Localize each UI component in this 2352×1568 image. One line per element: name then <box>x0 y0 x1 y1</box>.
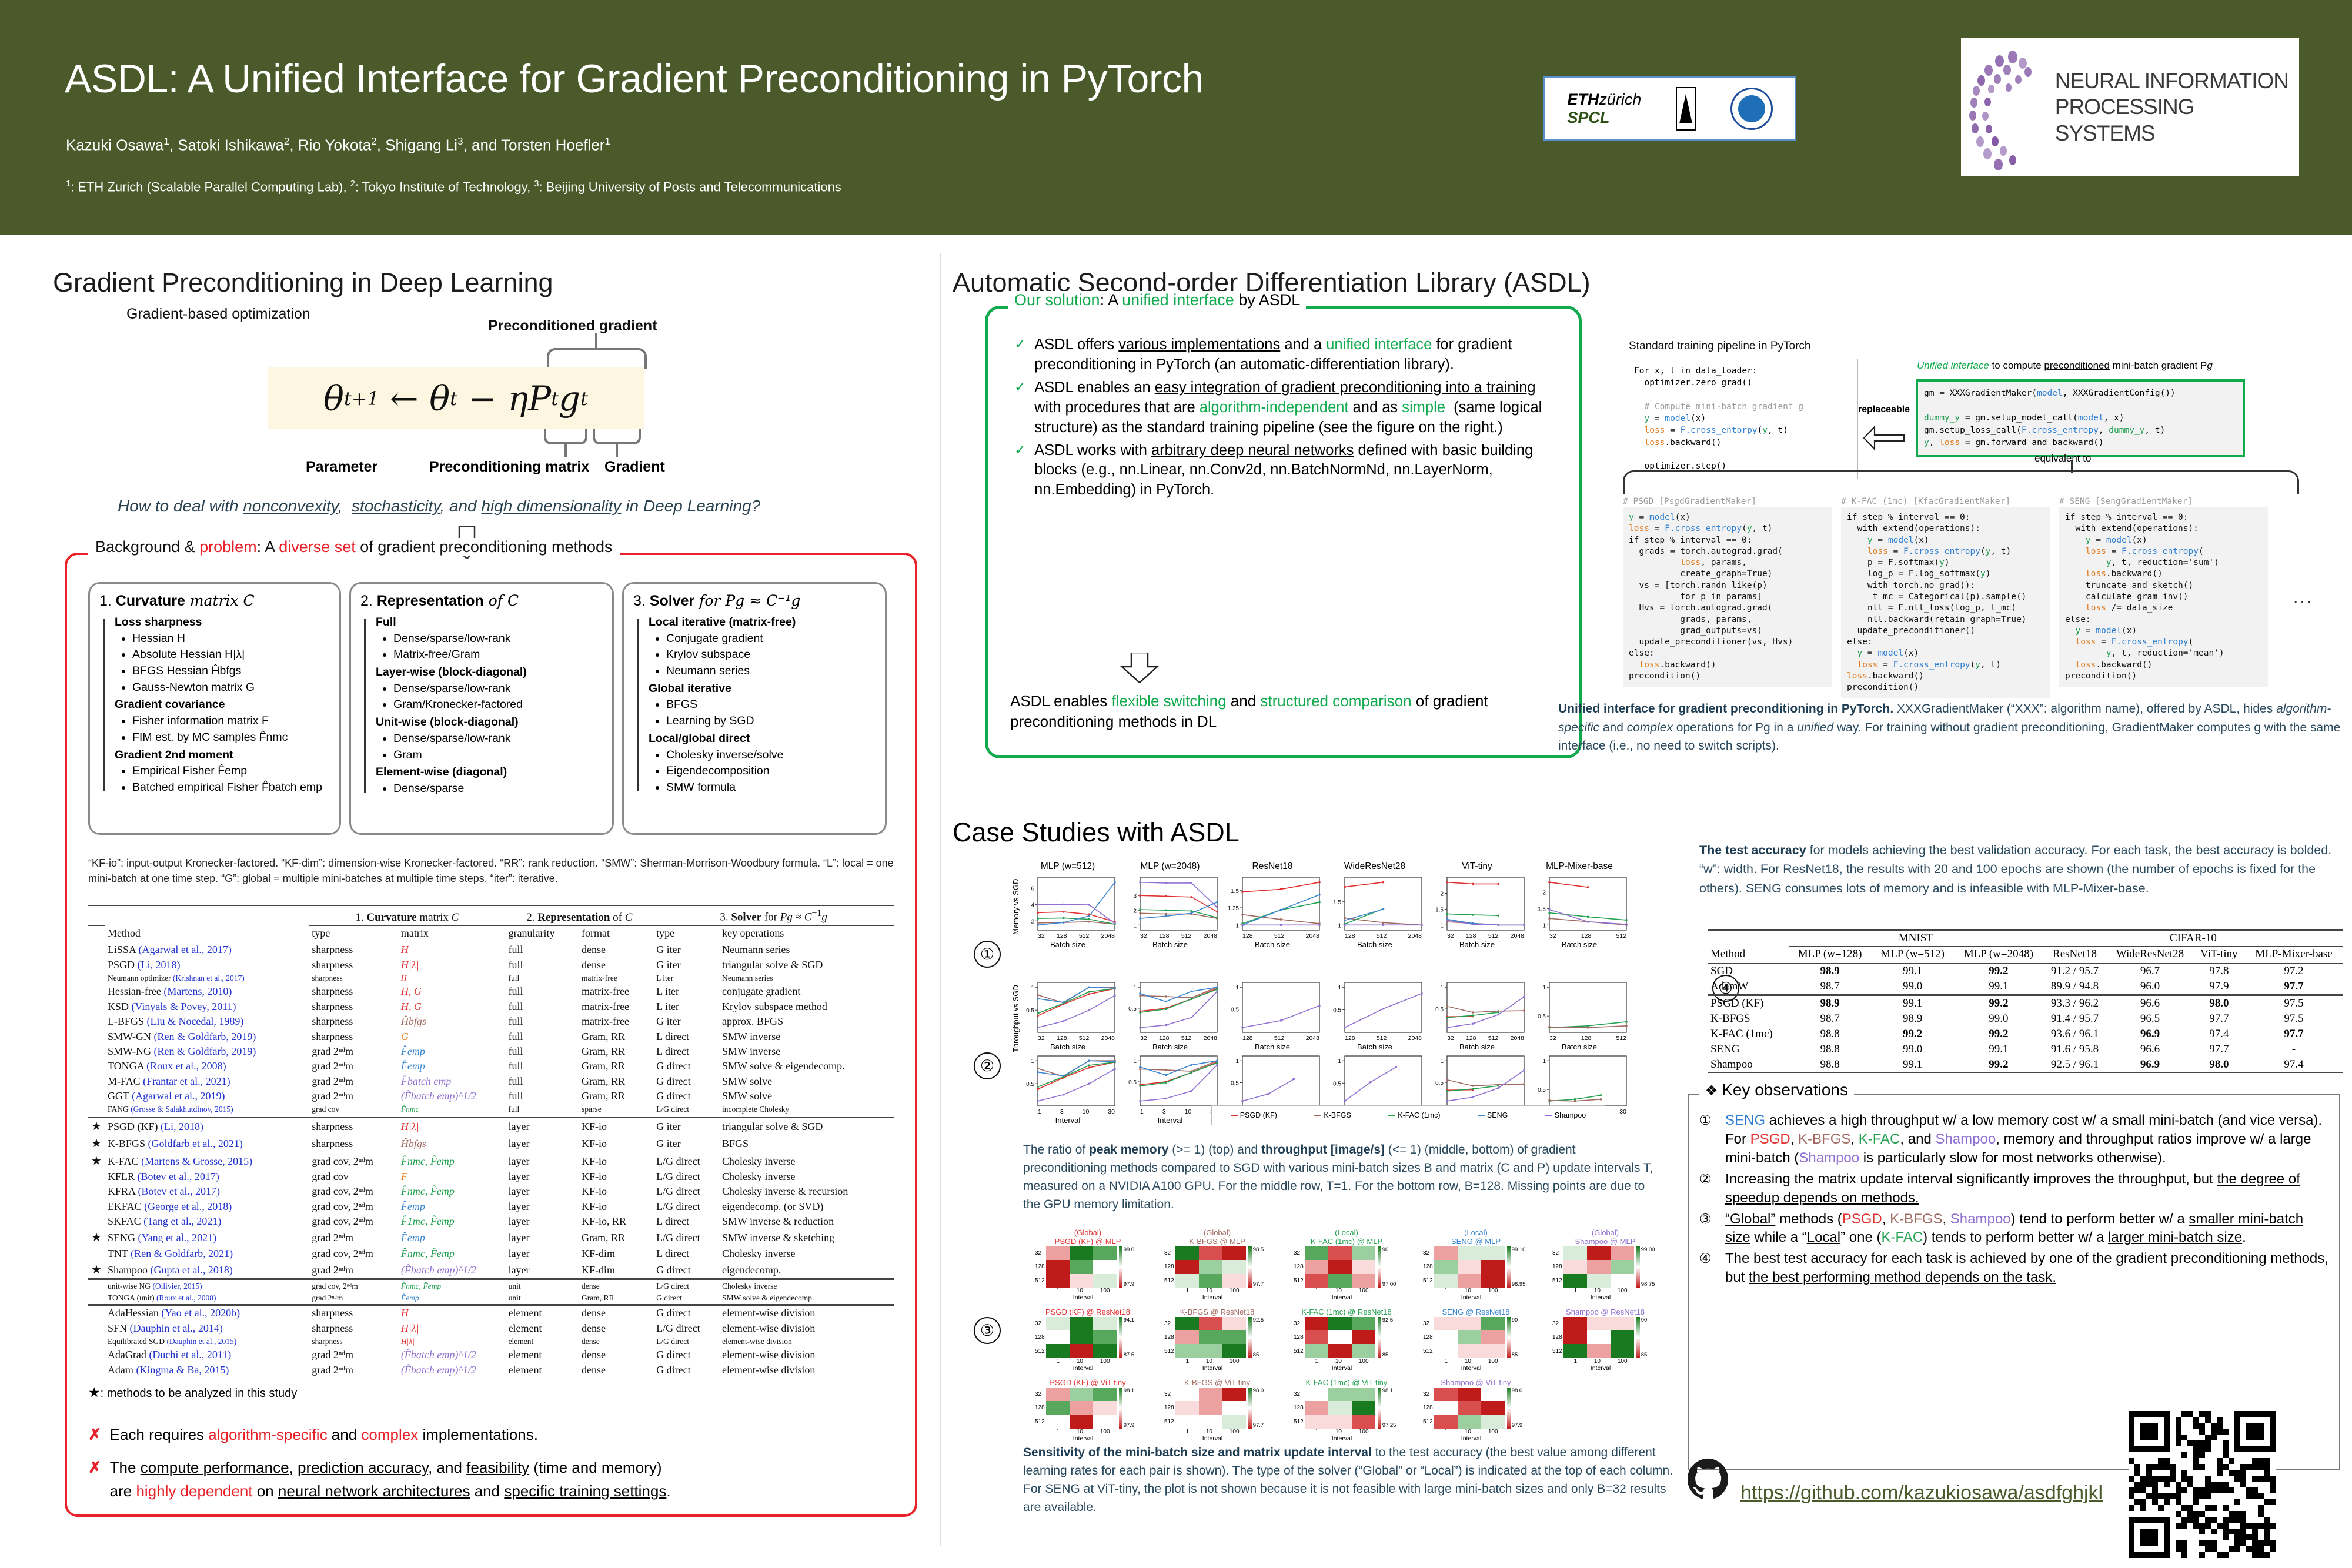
svg-text:0.5: 0.5 <box>1128 1079 1137 1086</box>
accuracy-caption: The test accuracy for models achieving t… <box>1699 841 2346 898</box>
chart-xaxis-label: Interval <box>1020 1116 1115 1125</box>
heatmap-ytick: 512 <box>1294 1348 1304 1355</box>
table-row: EKFAC (George et al., 2018)grad cov, 2ⁿᵈ… <box>88 1199 894 1213</box>
svg-text:1: 1 <box>1338 985 1341 991</box>
svg-text:0.5: 0.5 <box>1333 1081 1341 1087</box>
heatmap-ytick: 512 <box>1164 1278 1174 1284</box>
label-preconditioned-gradient: Preconditioned gradient <box>488 317 657 335</box>
table-row: AdaHessian (Yao et al., 2020b)sharpnessH… <box>88 1305 894 1321</box>
observation-number: ③ <box>1699 1210 1725 1248</box>
unified-interface-caption: Unified interface for gradient precondit… <box>1558 700 2343 755</box>
heatmap-ytick: 32 <box>1423 1250 1433 1256</box>
chart-row-memory: MLP (w=512)246321285122048Batch sizeMLP … <box>1020 861 1627 949</box>
bupt-logo <box>1730 88 1773 130</box>
heatmap-cbar-bottom: 87.5 <box>1124 1352 1135 1358</box>
solution-check-item: ✓ASDL offers various implementations and… <box>1014 335 1552 375</box>
heatmap-xlabel: Interval <box>1048 1294 1118 1301</box>
heatmap-ytick: 32 <box>1035 1320 1045 1327</box>
author-list: Kazuki Osawa1, Satoki Ishikawa2, Rio Yok… <box>66 135 610 155</box>
svg-text:2: 2 <box>1133 908 1137 914</box>
heatmap-cbar-top: 90 <box>1382 1246 1396 1253</box>
table-row: LiSSA (Agarwal et al., 2017)sharpnessHfu… <box>88 942 894 958</box>
svg-text:1: 1 <box>1338 1058 1341 1065</box>
accuracy-row: K-BFGS98.798.999.091.4 / 95.796.597.797.… <box>1708 1011 2343 1027</box>
yaxis-throughput-1: Throughput vs SGD <box>1011 985 1020 1052</box>
chart-panel: 0.51321285122048Batch size <box>1429 979 1525 1051</box>
chart-panel: 0.511285122048Batch size <box>1225 979 1320 1051</box>
taxonomy-item: Matrix-free/Gram <box>393 647 603 663</box>
heatmap-title: Shampoo @ ResNet18 <box>1552 1308 1658 1317</box>
table-row: Neumann optimizer (Krishnan et al., 2017… <box>88 972 894 984</box>
check-icon: ✓ <box>1014 378 1026 438</box>
heatmap-xtick: 10 <box>1465 1288 1471 1294</box>
svg-text:1: 1 <box>1338 922 1341 929</box>
heatmap-cbar-top: 99.00 <box>1641 1246 1655 1253</box>
taxonomy-item: Eigendecomposition <box>666 763 876 780</box>
solution-checklist: ✓ASDL offers various implementations and… <box>1014 335 1552 503</box>
svg-text:1.5: 1.5 <box>1231 888 1239 895</box>
chart-xaxis-label: Batch size <box>1225 940 1320 949</box>
table-row: GGT (Agarwal et al., 2019)grad 2ⁿᵈm(F̂ba… <box>88 1089 894 1104</box>
svg-text:1: 1 <box>1133 922 1137 929</box>
heatmap-xlabel: Interval <box>1307 1294 1377 1301</box>
heatmap-ytick: 128 <box>1164 1405 1174 1411</box>
callout-1: ① <box>974 941 1001 968</box>
heatmap-title: K-FAC (1mc) @ MLP <box>1294 1238 1399 1246</box>
heatmap-cbar-bottom: 85 <box>1253 1352 1264 1358</box>
taxonomy-item: Empirical Fisher F̂emp <box>132 763 330 780</box>
key-observations-list: ①SENG achieves a high throughput w/ a lo… <box>1699 1111 2331 1289</box>
table-row: SMW-NG (Ren & Goldfarb, 2019)grad 2ⁿᵈmF̂… <box>88 1044 894 1059</box>
table-row: Equilibrated SGD (Dauphin et al., 2015)s… <box>88 1336 894 1348</box>
table-row: SMW-GN (Ren & Goldfarb, 2019)sharpnessGf… <box>88 1029 894 1044</box>
heatmap-xlabel: Interval <box>1177 1365 1248 1372</box>
heatmap-cbar-top: 90 <box>1512 1317 1518 1323</box>
svg-text:6: 6 <box>1031 885 1034 892</box>
page-title: ASDL: A Unified Interface for Gradient P… <box>65 56 1204 102</box>
neurips-line-2: PROCESSING SYSTEMS <box>2055 94 2299 146</box>
chart-plot: 0.511285122048 <box>1327 979 1422 1042</box>
chart-plot: 11.5232128512 <box>1532 874 1627 940</box>
brace-preconditioned-gradient <box>547 348 647 369</box>
heatmap-cbar-bottom: 85 <box>1641 1352 1648 1358</box>
taxonomy-group: Layer-wise (block-diagonal) <box>376 664 603 681</box>
chart-panel: WideResNet2811.51285122048Batch size <box>1327 861 1422 949</box>
algorithm-code-panels: # PSGD [PsgdGradientMaker]y = model(x) l… <box>1623 497 2268 698</box>
accuracy-row: SGD98.999.199.291.2 / 95.796.797.897.2 <box>1708 963 2343 979</box>
heatmap-ytick: 512 <box>1294 1419 1304 1425</box>
heatmap-ytick: 128 <box>1423 1263 1433 1270</box>
svg-text:1: 1 <box>1031 985 1034 991</box>
eth-logo-text: ETH <box>1567 91 1599 108</box>
taxonomy-item: Krylov subspace <box>666 647 876 663</box>
x-mark-icon: ✗ <box>88 1456 102 1503</box>
heatmap-xtick: 1 <box>1444 1429 1448 1435</box>
github-url-link[interactable]: https://github.com/kazukiosawa/asdfghjkl <box>1740 1482 2103 1505</box>
table-row: ★SENG (Yang et al., 2021)grad 2ⁿᵈmF̂empl… <box>88 1229 894 1246</box>
heatmap-panel: PSGD (KF) @ ViT-tiny3212851298.197.91101… <box>1035 1379 1141 1442</box>
svg-text:0.5: 0.5 <box>1435 1080 1444 1086</box>
taxonomy-item: Batched empirical Fisher F̂batch emp <box>132 780 330 796</box>
heatmap-cbar-top: 90 <box>1641 1317 1648 1323</box>
svg-text:1.5: 1.5 <box>1538 906 1546 912</box>
heatmap-title: PSGD (KF) @ MLP <box>1035 1238 1141 1246</box>
key-observations-title: ❖ Key observations <box>1699 1081 1854 1099</box>
heatmap-ytick: 512 <box>1035 1419 1045 1425</box>
chart-xaxis-label: Batch size <box>1020 940 1115 949</box>
heatmap-ytick: 512 <box>1035 1348 1045 1355</box>
background-problem-title: Background & problem: A diverse set of g… <box>88 538 620 556</box>
heatmap-cells <box>1046 1317 1117 1358</box>
svg-text:0.5: 0.5 <box>1538 1014 1546 1020</box>
taxonomy-item: Conjugate gradient <box>666 631 876 647</box>
chart-plot: 11.251.51285122048 <box>1225 874 1320 940</box>
heatmap-xtick: 100 <box>1100 1358 1110 1365</box>
taxonomy-item: Fisher information matrix F <box>132 713 330 730</box>
chart-panel: MLP (w=2048)123321285122048Batch size <box>1122 861 1218 949</box>
observation-number: ② <box>1699 1170 1725 1208</box>
chart-caption: The ratio of peak memory (>= 1) (top) an… <box>1023 1141 1658 1213</box>
heatmap-solver-type: (Local) <box>1294 1229 1399 1238</box>
heatmap-xtick: 1 <box>1573 1288 1577 1294</box>
code-panel: # K-FAC (1mc) [KfacGradientMaker]if step… <box>1841 497 2050 698</box>
chart-panel: MLP-Mixer-base11.5232128512Batch size <box>1532 861 1627 949</box>
heatmap-cells <box>1563 1246 1634 1288</box>
heatmap-cells <box>1175 1388 1246 1429</box>
svg-text:1.5: 1.5 <box>1435 907 1444 913</box>
taxonomy-group: Global iterative <box>649 681 876 697</box>
heatmap-ytick: 32 <box>1164 1391 1174 1398</box>
heatmap-xlabel: Interval <box>1307 1365 1377 1372</box>
heatmap-title: Shampoo @ ViT-tiny <box>1423 1379 1529 1388</box>
taxonomy-group: Gradient covariance <box>115 697 330 713</box>
heatmap-xtick: 100 <box>1618 1358 1628 1365</box>
double-arrow-icon <box>1863 423 1907 460</box>
taxonomy-card-1: 1. Curvature matrix CLoss sharpnessHessi… <box>88 582 341 835</box>
heatmap-solver-type: (Global) <box>1164 1229 1270 1238</box>
heatmap-xtick: 100 <box>1488 1288 1498 1294</box>
heatmap-cells <box>1046 1246 1117 1288</box>
heatmap-ytick: 32 <box>1552 1250 1562 1256</box>
spcl-logo-text: SPCL <box>1567 110 1609 126</box>
heatmap-cbar-bottom: 97.9 <box>1124 1422 1135 1429</box>
svg-text:0.5: 0.5 <box>1026 1008 1034 1014</box>
taxonomy-group: Loss sharpness <box>115 614 330 631</box>
heatmap-row: PSGD (KF) @ ResNet183212851294.187.51101… <box>1035 1308 1658 1372</box>
chart-legend: PSGD (KF)K-BFGSK-FAC (1mc)SENGShampoo <box>1211 1105 1605 1125</box>
brace-tick-pmat <box>564 443 567 457</box>
taxonomy-item: FIM est. by MC samples F̂nmc <box>132 730 330 746</box>
heatmap-cells <box>1175 1317 1246 1358</box>
svg-text:0.5: 0.5 <box>1435 1007 1444 1013</box>
taxonomy-item: Neumann series <box>666 663 876 680</box>
table-row: Adam (Kingma & Ba, 2015)grad 2ⁿᵈm(F̂batc… <box>88 1363 894 1379</box>
taxonomy-item: Absolute Hessian H|λ| <box>132 647 330 663</box>
code-panel: # SENG [SengGradientMaker]if step % inte… <box>2059 497 2268 687</box>
heatmap-cbar-top: 94.1 <box>1124 1317 1135 1323</box>
svg-text:1: 1 <box>1031 1058 1034 1065</box>
our-solution-title: Our solution: A unified interface by ASD… <box>1008 291 1306 309</box>
table-row: ★K-FAC (Martens & Grosse, 2015)grad cov,… <box>88 1152 894 1169</box>
heatmap-ytick: 32 <box>1294 1320 1304 1327</box>
problem-bullets: ✗Each requires algorithm-specific and co… <box>88 1423 888 1503</box>
svg-text:1: 1 <box>1133 1058 1137 1065</box>
table-row: FANG (Grosse & Salakhutdinov, 2015)grad … <box>88 1104 894 1116</box>
heatmap-panel: Shampoo @ ViT-tiny3212851298.097.9110100… <box>1423 1379 1529 1442</box>
table-row: SFN (Dauphin et al., 2014)sharpnessH|λ|e… <box>88 1320 894 1335</box>
table-row: ★K-BFGS (Goldfarb et al., 2021)sharpness… <box>88 1135 894 1152</box>
taxonomy-item: Gram <box>393 747 603 764</box>
heatmap-ytick: 128 <box>1164 1263 1174 1270</box>
heatmap-cbar-top: 98.0 <box>1253 1388 1264 1394</box>
heatmap-title: Shampoo @ MLP <box>1552 1238 1658 1246</box>
chart-panel-title: ResNet18 <box>1225 861 1320 872</box>
accuracy-row: PSGD (KF)98.999.199.293.3 / 96.296.698.0… <box>1708 995 2343 1012</box>
heatmap-cbar-bottom: 97.9 <box>1512 1422 1523 1429</box>
heatmap-cbar-bottom: 85 <box>1382 1352 1394 1358</box>
brace-tick-top <box>595 333 597 349</box>
heatmap-caption: Sensitivity of the mini-batch size and m… <box>1023 1443 1682 1516</box>
chart-panel-title: MLP-Mixer-base <box>1532 861 1627 872</box>
eth-logo-sub: zürich <box>1599 91 1641 108</box>
heatmap-ytick: 512 <box>1552 1278 1562 1284</box>
taxonomy-group: Full <box>376 614 603 631</box>
chart-xaxis-label: Batch size <box>1122 1042 1218 1051</box>
heatmap-panel: (Global)PSGD (KF) @ MLP3212851299.097.91… <box>1035 1229 1141 1301</box>
code-panel-header: # SENG [SengGradientMaker] <box>2059 497 2268 506</box>
heatmap-xtick: 100 <box>1488 1358 1498 1365</box>
taxonomy-group: Unit-wise (block-diagonal) <box>376 714 603 731</box>
titech-logo <box>1676 87 1696 131</box>
taxonomy-item: Learning by SGD <box>666 713 876 730</box>
code-panel: # PSGD [PsgdGradientMaker]y = model(x) l… <box>1623 497 1832 687</box>
taxonomy-group: Local/global direct <box>649 731 876 747</box>
heatmap-xtick: 100 <box>1230 1358 1240 1365</box>
heatmap-panel: (Global)K-BFGS @ MLP3212851298.597.71101… <box>1164 1229 1270 1301</box>
taxonomy-item: Dense/sparse/low-rank <box>393 681 603 697</box>
qr-code <box>2129 1411 2276 1558</box>
svg-text:1: 1 <box>1133 985 1137 991</box>
chart-panel: 0.51131030Interval <box>1020 1052 1115 1125</box>
code-brace <box>1623 470 2299 494</box>
heatmap-ytick: 128 <box>1552 1334 1562 1340</box>
chart-panel: 0.51321285122048Batch size <box>1020 979 1115 1051</box>
accuracy-row: K-FAC (1mc)98.899.299.293.6 / 96.196.997… <box>1708 1027 2343 1042</box>
taxonomy-card-title: 2. Representation of C <box>360 592 603 610</box>
code-panel-body: if step % interval == 0: with extend(ope… <box>2059 507 2268 687</box>
heatmap-xtick: 100 <box>1100 1429 1110 1435</box>
table-row: Hessian-free (Martens, 2010)sharpnessH, … <box>88 984 894 999</box>
observation-text: Increasing the matrix update interval si… <box>1725 1170 2331 1208</box>
solution-check-item: ✓ASDL enables an easy integration of gra… <box>1014 378 1552 438</box>
heatmap-xtick: 1 <box>1315 1429 1318 1435</box>
unified-interface-label: Unified interface to compute preconditio… <box>1917 360 2213 372</box>
heatmap-title: SENG @ ResNet18 <box>1423 1308 1529 1317</box>
chart-plot: 0.51321285122048 <box>1122 979 1218 1042</box>
heatmap-ytick: 128 <box>1423 1334 1433 1340</box>
svg-text:1.5: 1.5 <box>1333 900 1341 906</box>
code-panel-header: # K-FAC (1mc) [KfacGradientMaker] <box>1841 497 2050 506</box>
taxonomy-item: Dense/sparse/low-rank <box>393 631 603 647</box>
heatmap-cbar-bottom: 85 <box>1512 1352 1518 1358</box>
heatmap-ytick: 128 <box>1164 1334 1174 1340</box>
legend-item: Shampoo <box>1545 1111 1586 1119</box>
heatmap-cells <box>1563 1317 1634 1358</box>
table-row: KFLR (Botev et al., 2017)grad covFlayerK… <box>88 1169 894 1184</box>
section-title-case-studies: Case Studies with ASDL <box>953 817 1240 848</box>
svg-text:2: 2 <box>1031 918 1034 925</box>
chart-xaxis-label: Batch size <box>1532 940 1627 949</box>
heatmap-cbar-top: 98.5 <box>1253 1246 1264 1253</box>
heatmap-xlabel: Interval <box>1565 1365 1636 1372</box>
chart-xaxis-label: Batch size <box>1020 1042 1115 1051</box>
heatmap-xlabel: Interval <box>1436 1435 1506 1442</box>
heatmap-cbar-top: 98.0 <box>1512 1388 1523 1394</box>
code-brace-stem <box>2071 460 2073 473</box>
poster-header: ASDL: A Unified Interface for Gradient P… <box>0 0 2352 235</box>
heatmap-xtick: 100 <box>1359 1429 1369 1435</box>
svg-text:1: 1 <box>1440 922 1444 929</box>
heatmap-panel: K-BFGS @ ResNet183212851292.585110100Int… <box>1164 1308 1270 1372</box>
chart-plot: 0.511285122048 <box>1225 979 1320 1042</box>
solution-check-item: ✓ASDL works with arbitrary deep neural n… <box>1014 441 1552 501</box>
heatmap-panel: Shampoo @ ResNet18321285129085110100Inte… <box>1552 1308 1658 1372</box>
svg-text:0.5: 0.5 <box>1333 1007 1341 1014</box>
heatmap-ytick: 512 <box>1423 1419 1433 1425</box>
heatmap-cbar-top: 98.1 <box>1124 1388 1135 1394</box>
svg-text:4: 4 <box>1031 902 1034 908</box>
table-row: ★Shampoo (Gupta et al., 2018)grad 2ⁿᵈm(F… <box>88 1261 894 1279</box>
heatmap-xlabel: Interval <box>1177 1294 1248 1301</box>
key-observation-item: ④The best test accuracy for each task is… <box>1699 1249 2331 1287</box>
replaceable-label: replaceable <box>1858 404 1910 415</box>
heatmap-xtick: 10 <box>1077 1358 1083 1365</box>
code-panel-body: y = model(x) loss = F.cross_entropy(y, t… <box>1623 507 1832 687</box>
svg-text:1: 1 <box>1235 1058 1239 1065</box>
svg-text:1: 1 <box>1235 985 1239 991</box>
chart-panel-title: WideResNet28 <box>1327 861 1422 872</box>
svg-text:1: 1 <box>1542 985 1546 991</box>
taxonomy-group: Element-wise (diagonal) <box>376 764 603 781</box>
chart-plot: 0.51321285122048 <box>1429 979 1525 1042</box>
heatmap-ytick: 32 <box>1294 1250 1304 1256</box>
svg-text:1: 1 <box>1542 922 1546 929</box>
heatmap-cbar-top: 99.10 <box>1512 1246 1526 1253</box>
chart-xaxis-label: Batch size <box>1429 940 1525 949</box>
heatmap-ytick: 512 <box>1164 1348 1174 1355</box>
github-icon <box>1688 1458 1729 1499</box>
observation-number: ① <box>1699 1111 1725 1168</box>
heatmap-ytick: 512 <box>1035 1278 1045 1284</box>
taxonomy-card-2: 2. Representation of CFullDense/sparse/l… <box>349 582 614 835</box>
heatmap-xtick: 10 <box>1335 1358 1342 1365</box>
section-title-gradient-preconditioning: Gradient Preconditioning in Deep Learnin… <box>53 268 553 298</box>
check-icon: ✓ <box>1014 335 1026 375</box>
chart-plot: 123321285122048 <box>1122 874 1218 940</box>
heatmap-title: K-BFGS @ MLP <box>1164 1238 1270 1246</box>
heatmap-xlabel: Interval <box>1048 1435 1118 1442</box>
svg-text:1.25: 1.25 <box>1228 905 1240 912</box>
taxonomy-item: Gram/Kronecker-factored <box>393 697 603 713</box>
heatmap-cells <box>1175 1246 1246 1288</box>
heatmap-xtick: 100 <box>1230 1429 1240 1435</box>
heatmap-ytick: 128 <box>1035 1334 1045 1340</box>
taxonomy-item: SMW formula <box>666 780 876 796</box>
legend-item: PSGD (KF) <box>1231 1111 1277 1119</box>
heatmap-cbar-top: 99.0 <box>1124 1246 1135 1253</box>
taxonomy-item: BFGS <box>666 697 876 713</box>
heatmap-ytick: 512 <box>1423 1278 1433 1284</box>
table-row: M-FAC (Frantar et al., 2021)grad 2ⁿᵈmF̂b… <box>88 1074 894 1088</box>
accuracy-row: AdamW98.799.099.189.9 / 94.896.097.997.7 <box>1708 979 2343 995</box>
equivalent-to-label: equivalent to <box>2034 453 2091 464</box>
heatmap-row: (Global)PSGD (KF) @ MLP3212851299.097.91… <box>1035 1229 1658 1301</box>
heatmap-ytick: 32 <box>1035 1250 1045 1256</box>
heatmap-row: PSGD (KF) @ ViT-tiny3212851298.197.91101… <box>1035 1379 1658 1442</box>
heatmap-xtick: 10 <box>1335 1429 1342 1435</box>
chart-panel: 0.51131030Interval <box>1122 1052 1218 1125</box>
heatmap-solver-type: (Global) <box>1035 1229 1141 1238</box>
legend-item: K-BFGS <box>1314 1111 1351 1119</box>
heatmap-cbar-top: 98.1 <box>1382 1388 1396 1394</box>
svg-text:1: 1 <box>1440 985 1444 991</box>
brace-tick-grad <box>616 443 618 457</box>
standard-pipeline-code: For x, t in data_loader: optimizer.zero_… <box>1629 359 1858 479</box>
taxonomy-cards: 1. Curvature matrix CLoss sharpnessHessi… <box>88 582 887 835</box>
heatmap-xtick: 10 <box>1077 1288 1083 1294</box>
svg-text:0.5: 0.5 <box>1231 1007 1239 1013</box>
heatmap-xlabel: Interval <box>1436 1294 1506 1301</box>
chart-xaxis-label: Batch size <box>1327 940 1422 949</box>
heatmap-title: K-BFGS @ ViT-tiny <box>1164 1379 1270 1388</box>
chart-panel: MLP (w=512)246321285122048Batch size <box>1020 861 1115 949</box>
heatmap-ytick: 32 <box>1164 1250 1174 1256</box>
down-arrow-icon-middle <box>1117 653 1162 683</box>
heatmap-cbar-bottom: 98.95 <box>1512 1281 1526 1288</box>
heatmap-ytick: 128 <box>1035 1263 1045 1270</box>
heatmap-ytick: 32 <box>1423 1320 1433 1327</box>
heatmap-xtick: 10 <box>1465 1358 1471 1365</box>
methods-table: Method1. Curvature matrix C2. Representa… <box>88 905 894 1382</box>
chart-panel: 0.511285122048Batch size <box>1327 979 1422 1051</box>
heatmap-ytick: 128 <box>1294 1263 1304 1270</box>
accuracy-row: SENG98.899.099.191.6 / 95.896.697.7- <box>1708 1042 2343 1057</box>
chart-panel-title: MLP (w=2048) <box>1122 861 1218 872</box>
taxonomy-group: Gradient 2nd moment <box>115 747 330 764</box>
code-panel-body: if step % interval == 0: with extend(ope… <box>1841 507 2050 698</box>
heatmap-xtick: 1 <box>1573 1358 1577 1365</box>
chart-panel: ViT-tiny11.52321285122048Batch size <box>1429 861 1525 949</box>
heatmap-panel: K-FAC (1mc) @ ResNet183212851292.5851101… <box>1294 1308 1399 1372</box>
heatmap-solver-type: (Local) <box>1423 1229 1529 1238</box>
heatmap-panel: (Local)K-FAC (1mc) @ MLP321285129097.001… <box>1294 1229 1399 1301</box>
heatmap-ytick: 32 <box>1294 1391 1304 1398</box>
yaxis-memory: Memory vs SGD <box>1011 879 1020 935</box>
heatmap-ytick: 512 <box>1423 1348 1433 1355</box>
heatmap-cells <box>1305 1317 1375 1358</box>
label-gradient: Gradient <box>604 459 665 476</box>
key-observation-item: ①SENG achieves a high throughput w/ a lo… <box>1699 1111 2331 1168</box>
svg-text:2: 2 <box>1542 890 1546 896</box>
neurips-swirl-icon <box>1967 47 2055 168</box>
table-row: AdaGrad (Duchi et al., 2011)grad 2ⁿᵈm(F̂… <box>88 1348 894 1362</box>
heatmap-ytick: 512 <box>1164 1419 1174 1425</box>
chart-xaxis-label: Batch size <box>1327 1042 1422 1051</box>
heatmap-xtick: 10 <box>1594 1288 1601 1294</box>
taxonomy-item: Dense/sparse/low-rank <box>393 731 603 747</box>
table-row: KFRA (Botev et al., 2017)grad cov, 2ⁿᵈmF… <box>88 1184 894 1199</box>
unified-interface-code: gm = XXXGradientMaker(model, XXXGradient… <box>1916 379 2245 457</box>
